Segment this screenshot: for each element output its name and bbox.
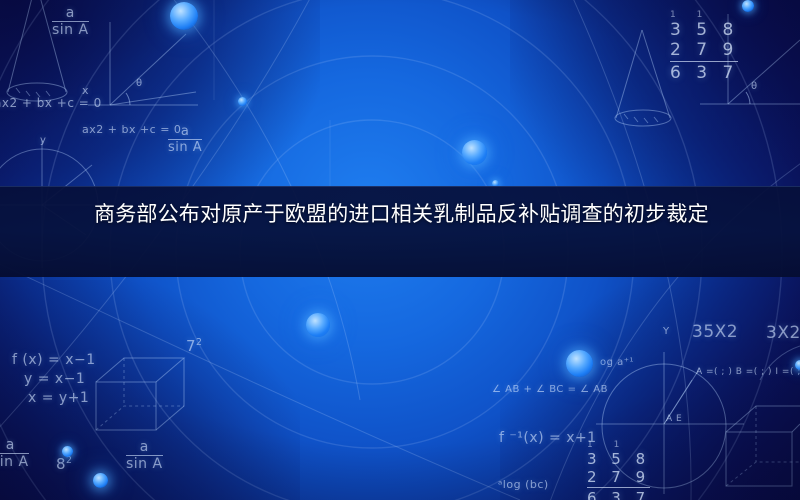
arithmetic-sum-top-right: 1 13 5 82 7 96 3 7: [670, 10, 738, 83]
glow-dot-3: [462, 140, 487, 165]
glow-dot-6: [566, 350, 593, 377]
glow-dot-7: [62, 446, 73, 457]
arithmetic-sum-bottom: 1 13 5 82 7 96 3 7: [587, 440, 650, 500]
glow-dot-2: [238, 97, 247, 106]
glow-dot-8: [93, 473, 108, 488]
page-title: 商务部公布对原产于欧盟的进口相关乳制品反补贴调查的初步裁定: [94, 198, 720, 230]
glow-dot-5: [306, 313, 330, 337]
glow-dot-10: [795, 360, 800, 370]
slide-canvas: asin Aax2 + bx +c = 0ax2 + bx +c = 0asin…: [0, 0, 800, 500]
glow-dot-1: [170, 2, 198, 30]
glow-dot-9: [742, 0, 754, 12]
